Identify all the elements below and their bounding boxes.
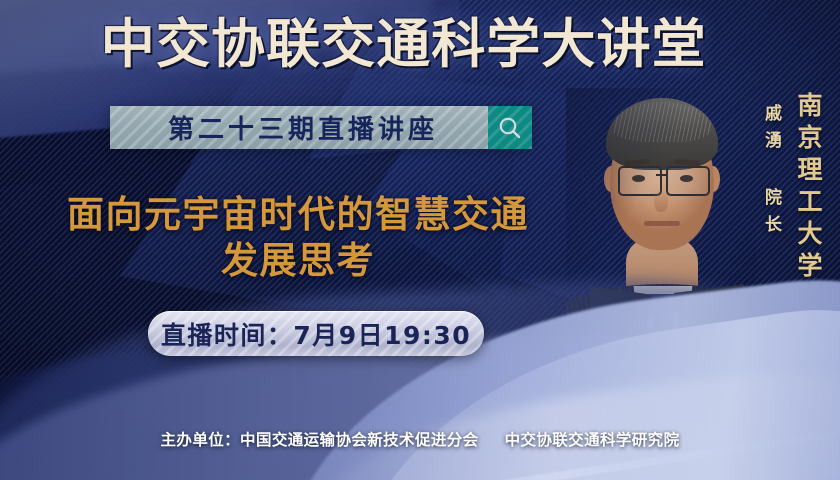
episode-label: 第二十三期直播讲座 xyxy=(160,109,438,146)
broadcast-time-text: 直播时间：7月9日19:30 xyxy=(161,316,471,352)
lecture-title-line1: 面向元宇宙时代的智慧交通 xyxy=(38,192,558,238)
portrait-figure xyxy=(566,88,756,388)
live-lecture-poster: 中交协联交通科学大讲堂 第二十三期直播讲座 面向元宇宙时代的智慧交通 发展思考 … xyxy=(0,0,840,480)
speaker-portrait xyxy=(566,88,756,388)
page-title: 中交协联交通科学大讲堂 xyxy=(0,18,840,71)
organizer-name-1: 中国交通运输协会新技术促进分会 xyxy=(240,431,479,449)
portrait-bottom-fade xyxy=(566,328,756,388)
search-button[interactable] xyxy=(488,106,532,149)
organizer-prefix: 主办单位： xyxy=(161,431,241,449)
episode-banner-body: 第二十三期直播讲座 xyxy=(110,106,488,149)
organizer-name-2: 中交协联交通科学研究院 xyxy=(505,431,680,449)
episode-banner: 第二十三期直播讲座 xyxy=(110,106,532,149)
lecture-title: 面向元宇宙时代的智慧交通 发展思考 xyxy=(38,192,558,284)
lecture-title-line2: 发展思考 xyxy=(38,238,558,284)
organizer-footer: 主办单位：中国交通运输协会新技术促进分会中交协联交通科学研究院 xyxy=(0,428,840,450)
search-icon xyxy=(497,115,523,141)
speaker-organization: 南京理工大学 xyxy=(790,92,826,284)
speaker-name-title: 戚湧 院长 xyxy=(759,104,784,242)
broadcast-time-badge: 直播时间：7月9日19:30 xyxy=(148,311,484,356)
